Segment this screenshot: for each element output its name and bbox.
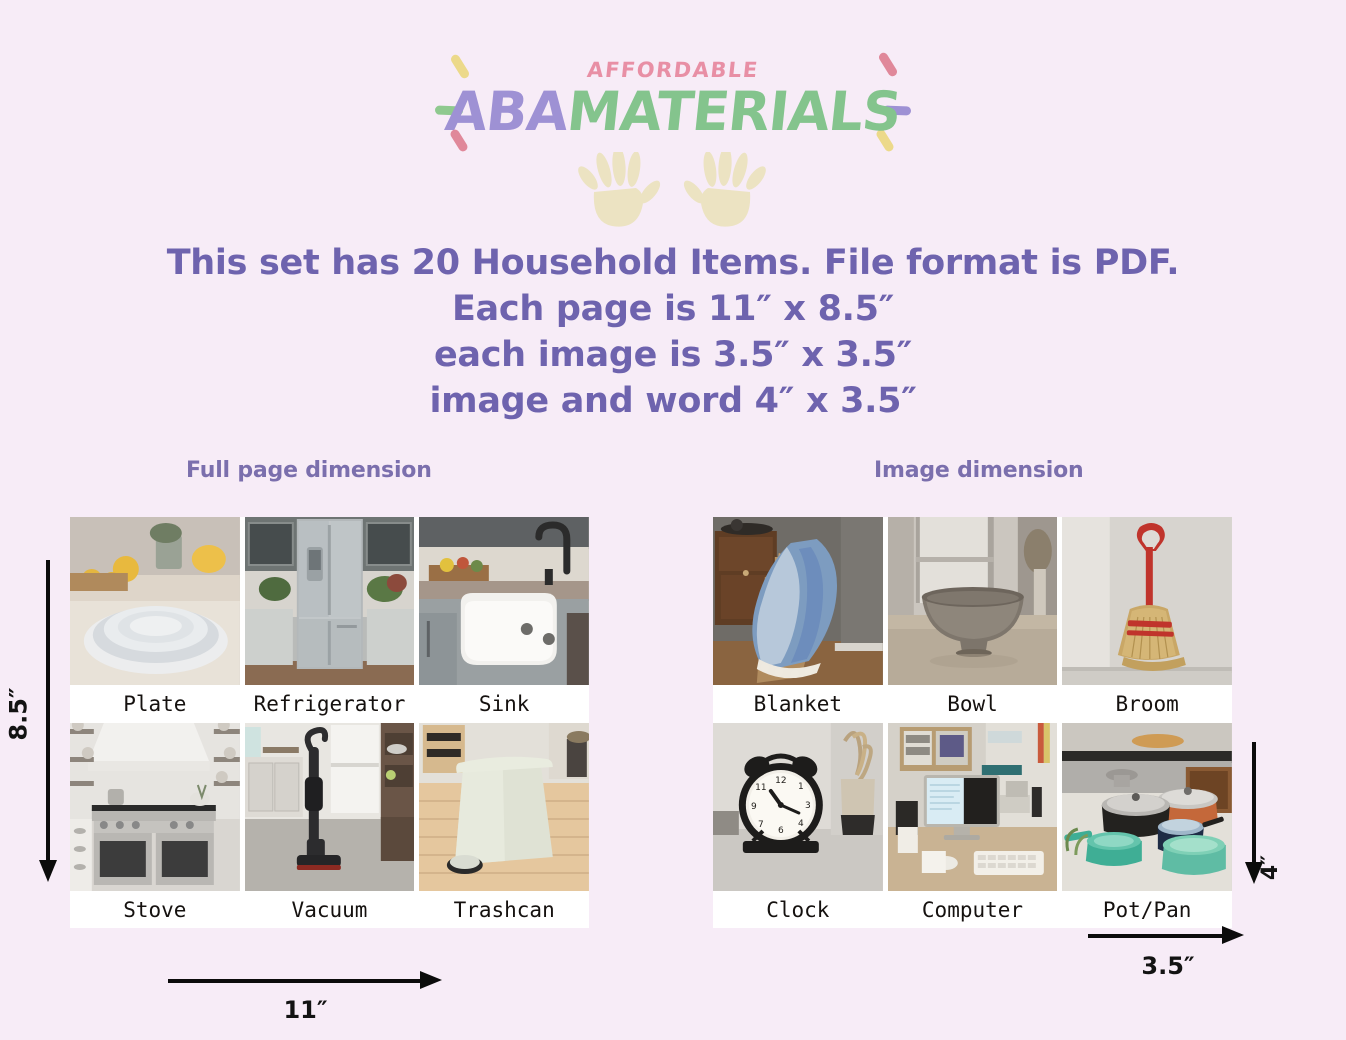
cell-label: Computer xyxy=(888,891,1058,928)
page-width-label: 11″ xyxy=(168,996,443,1024)
vacuum-photo xyxy=(245,723,415,891)
grid-row: Plate Refrigerator Sink xyxy=(70,517,589,722)
description-line-4: image and word 4″ x 3.5″ xyxy=(0,378,1346,424)
svg-text:3: 3 xyxy=(805,801,811,811)
description-line-2: Each page is 11″ x 8.5″ xyxy=(0,286,1346,332)
sink-photo xyxy=(419,517,589,685)
logo-tagline: AFFORDABLE xyxy=(432,58,915,82)
image-width-label: 3.5″ xyxy=(1088,952,1248,980)
image-preview-grid: Blanket Bowl Broom xyxy=(713,517,1232,928)
grid-row: Blanket Bowl Broom xyxy=(713,517,1232,722)
blanket-photo xyxy=(713,517,883,685)
cell-label: Trashcan xyxy=(419,891,589,928)
svg-text:4: 4 xyxy=(798,819,804,829)
potpan-photo xyxy=(1062,723,1232,891)
cell-label: Vacuum xyxy=(245,891,415,928)
grid-row: 12 1 3 4 6 7 9 11 xyxy=(713,723,1232,928)
cell-label: Plate xyxy=(70,685,240,722)
product-description: This set has 20 Household Items. File fo… xyxy=(0,240,1346,424)
description-line-3: each image is 3.5″ x 3.5″ xyxy=(0,332,1346,378)
refrigerator-photo xyxy=(245,517,415,685)
section-heading-full-page: Full page dimension xyxy=(186,458,432,483)
cell-label: Blanket xyxy=(713,685,883,722)
description-line-1: This set has 20 Household Items. File fo… xyxy=(0,240,1346,286)
logo-wordmark-materials: MATERIALS xyxy=(564,80,903,143)
logo-wordmark: ABAMATERIALS xyxy=(430,80,917,143)
svg-text:6: 6 xyxy=(778,826,784,836)
page-height-label: 8.5″ xyxy=(5,687,33,740)
image-height-label: 4″ xyxy=(1258,855,1283,880)
svg-text:1: 1 xyxy=(798,782,804,792)
svg-text:12: 12 xyxy=(775,776,786,786)
broom-photo xyxy=(1062,517,1232,685)
cell-label: Broom xyxy=(1062,685,1232,722)
handprints-icon xyxy=(433,152,913,235)
grid-row: Stove Vacuum Trashcan xyxy=(70,723,589,928)
brand-logo: AFFORDABLE ABAMATERIALS xyxy=(0,48,1346,228)
cell-label: Sink xyxy=(419,685,589,722)
svg-text:9: 9 xyxy=(751,802,757,812)
cell-label: Bowl xyxy=(888,685,1058,722)
cell-label: Refrigerator xyxy=(245,685,415,722)
bowl-photo xyxy=(888,517,1058,685)
cell-label: Pot/Pan xyxy=(1062,891,1232,928)
computer-photo xyxy=(888,723,1058,891)
trashcan-photo xyxy=(419,723,589,891)
plate-photo xyxy=(70,517,240,685)
svg-text:7: 7 xyxy=(758,820,764,830)
clock-photo: 12 1 3 4 6 7 9 11 xyxy=(713,723,883,891)
cell-label: Stove xyxy=(70,891,240,928)
cell-label: Clock xyxy=(713,891,883,928)
logo-wordmark-aba: ABA xyxy=(442,80,570,143)
stove-photo xyxy=(70,723,240,891)
svg-text:11: 11 xyxy=(755,783,766,793)
full-page-preview-grid: Plate Refrigerator Sink xyxy=(70,517,589,928)
section-heading-image: Image dimension xyxy=(874,458,1084,483)
